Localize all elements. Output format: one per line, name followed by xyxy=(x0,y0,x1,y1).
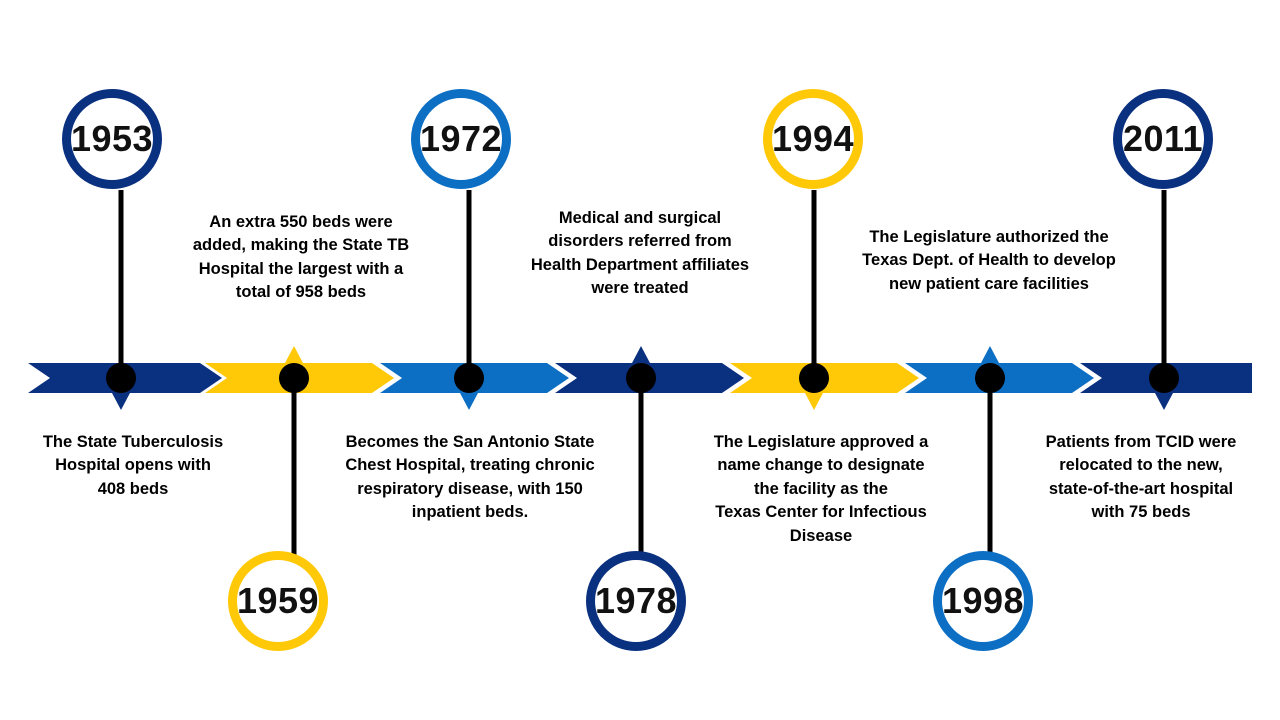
year-marker-2011[interactable]: 2011 xyxy=(1113,89,1213,189)
year-marker-1972[interactable]: 1972 xyxy=(411,89,511,189)
year-marker-1978[interactable]: 1978 xyxy=(586,551,686,651)
year-label-1959: 1959 xyxy=(237,583,319,619)
text-line: Becomes the San Antonio State xyxy=(305,431,635,454)
text-line: An extra 550 beds were xyxy=(150,211,452,234)
text-line: Disease xyxy=(676,525,966,548)
text-line: Medical and surgical xyxy=(490,207,790,230)
year-label-1998: 1998 xyxy=(942,583,1024,619)
year-marker-1959[interactable]: 1959 xyxy=(228,551,328,651)
text-line: Patients from TCID were xyxy=(1005,431,1277,454)
timeline-node-dot-1998[interactable] xyxy=(975,363,1005,393)
year-marker-1998[interactable]: 1998 xyxy=(933,551,1033,651)
year-label-1972: 1972 xyxy=(420,121,502,157)
text-line: inpatient beds. xyxy=(305,501,635,524)
year-label-2011: 2011 xyxy=(1123,121,1203,157)
event-text-1978: Medical and surgicaldisorders referred f… xyxy=(490,207,790,301)
year-label-1978: 1978 xyxy=(595,583,677,619)
timeline-node-dot-1978[interactable] xyxy=(626,363,656,393)
event-text-1959: An extra 550 beds wereadded, making the … xyxy=(150,211,452,305)
event-text-1972: Becomes the San Antonio StateChest Hospi… xyxy=(305,431,635,525)
text-line: Hospital the largest with a xyxy=(150,258,452,281)
text-line: new patient care facilities xyxy=(818,273,1160,296)
text-line: the facility as the xyxy=(676,478,966,501)
text-line: The State Tuberculosis xyxy=(0,431,268,454)
timeline-node-dot-1972[interactable] xyxy=(454,363,484,393)
text-line: Hospital opens with xyxy=(0,454,268,477)
year-marker-1994[interactable]: 1994 xyxy=(763,89,863,189)
text-line: Texas Dept. of Health to develop xyxy=(818,249,1160,272)
year-marker-1953[interactable]: 1953 xyxy=(62,89,162,189)
text-line: name change to designate xyxy=(676,454,966,477)
text-line: relocated to the new, xyxy=(1005,454,1277,477)
text-line: Texas Center for Infectious xyxy=(676,501,966,524)
text-line: Health Department affiliates xyxy=(490,254,790,277)
text-line: with 75 beds xyxy=(1005,501,1277,524)
text-line: The Legislature authorized the xyxy=(818,226,1160,249)
year-label-1994: 1994 xyxy=(772,121,854,157)
timeline-node-dot-1953[interactable] xyxy=(106,363,136,393)
text-line: total of 958 beds xyxy=(150,281,452,304)
text-line: respiratory disease, with 150 xyxy=(305,478,635,501)
text-line: The Legislature approved a xyxy=(676,431,966,454)
text-line: added, making the State TB xyxy=(150,234,452,257)
timeline-node-dot-2011[interactable] xyxy=(1149,363,1179,393)
timeline-node-dot-1959[interactable] xyxy=(279,363,309,393)
text-line: state-of-the-art hospital xyxy=(1005,478,1277,501)
timeline-node-dot-1994[interactable] xyxy=(799,363,829,393)
text-line: Chest Hospital, treating chronic xyxy=(305,454,635,477)
event-text-2011: Patients from TCID wererelocated to the … xyxy=(1005,431,1277,525)
event-text-1998: The Legislature authorized theTexas Dept… xyxy=(818,226,1160,296)
year-label-1953: 1953 xyxy=(71,121,153,157)
timeline-infographic: 1953 1972 1994 2011 1959 1978 1998 An ex… xyxy=(0,0,1280,720)
text-line: 408 beds xyxy=(0,478,268,501)
text-line: disorders referred from xyxy=(490,230,790,253)
event-text-1953: The State TuberculosisHospital opens wit… xyxy=(0,431,268,501)
event-text-1994: The Legislature approved aname change to… xyxy=(676,431,966,548)
text-line: were treated xyxy=(490,277,790,300)
